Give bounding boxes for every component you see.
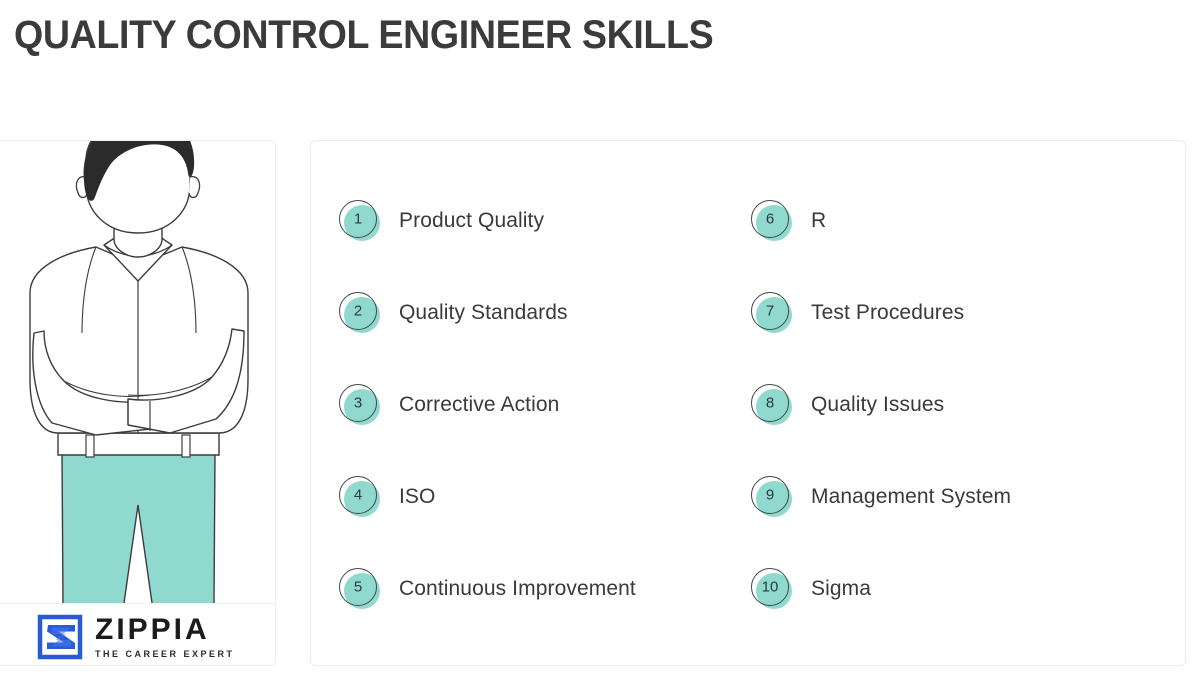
badge-ring: 10 (751, 568, 789, 606)
skill-label: Sigma (811, 576, 871, 602)
badge-number: 1 (354, 211, 362, 226)
skill-number-badge: 2 (339, 292, 381, 334)
skills-grid: 1 Product Quality 2 Quality Standards (311, 141, 1185, 665)
badge-number: 8 (766, 395, 774, 410)
zippia-wordmark: ZIPPIA (95, 615, 235, 645)
skill-label: R (811, 208, 826, 234)
badge-ring: 2 (339, 292, 377, 330)
badge-ring: 5 (339, 568, 377, 606)
skill-number-badge: 8 (751, 384, 793, 426)
engineer-illustration (0, 140, 276, 603)
badge-ring: 3 (339, 384, 377, 422)
skill-label: ISO (399, 484, 435, 510)
zippia-z-mark-icon (36, 613, 84, 661)
skill-row[interactable]: 7 Test Procedures (751, 267, 1163, 359)
badge-ring: 7 (751, 292, 789, 330)
illustration-panel: ZIPPIA THE CAREER EXPERT (0, 140, 276, 666)
badge-ring: 1 (339, 200, 377, 238)
skill-row[interactable]: 9 Management System (751, 451, 1163, 543)
skill-number-badge: 10 (751, 568, 793, 610)
badge-number: 10 (762, 579, 779, 594)
skill-row[interactable]: 10 Sigma (751, 543, 1163, 635)
skill-label: Quality Standards (399, 300, 568, 326)
badge-ring: 8 (751, 384, 789, 422)
logo-divider (0, 603, 275, 604)
skill-number-badge: 5 (339, 568, 381, 610)
skill-label: Quality Issues (811, 392, 944, 418)
zippia-logo[interactable]: ZIPPIA THE CAREER EXPERT (36, 613, 235, 661)
skill-number-badge: 1 (339, 200, 381, 242)
badge-ring: 6 (751, 200, 789, 238)
zippia-tagline: THE CAREER EXPERT (95, 649, 235, 659)
skill-number-badge: 3 (339, 384, 381, 426)
page-title: QUALITY CONTROL ENGINEER SKILLS (14, 12, 713, 58)
badge-number: 9 (766, 487, 774, 502)
page-root: QUALITY CONTROL ENGINEER SKILLS (0, 0, 1200, 675)
skill-row[interactable]: 8 Quality Issues (751, 359, 1163, 451)
badge-ring: 9 (751, 476, 789, 514)
zippia-logo-text: ZIPPIA THE CAREER EXPERT (95, 615, 235, 659)
skill-label: Management System (811, 484, 1011, 510)
skill-number-badge: 7 (751, 292, 793, 334)
skill-row[interactable]: 4 ISO (339, 451, 751, 543)
skill-label: Test Procedures (811, 300, 964, 326)
badge-number: 4 (354, 487, 362, 502)
skill-row[interactable]: 6 R (751, 175, 1163, 267)
skill-row[interactable]: 3 Corrective Action (339, 359, 751, 451)
badge-number: 7 (766, 303, 774, 318)
skill-number-badge: 9 (751, 476, 793, 518)
skill-row[interactable]: 5 Continuous Improvement (339, 543, 751, 635)
skill-row[interactable]: 2 Quality Standards (339, 267, 751, 359)
skill-label: Continuous Improvement (399, 576, 636, 602)
badge-number: 6 (766, 211, 774, 226)
skill-number-badge: 6 (751, 200, 793, 242)
skill-number-badge: 4 (339, 476, 381, 518)
skill-row[interactable]: 1 Product Quality (339, 175, 751, 267)
badge-number: 5 (354, 579, 362, 594)
badge-number: 2 (354, 303, 362, 318)
badge-ring: 4 (339, 476, 377, 514)
skill-label: Product Quality (399, 208, 544, 234)
skill-label: Corrective Action (399, 392, 559, 418)
badge-number: 3 (354, 395, 362, 410)
skills-card: 1 Product Quality 2 Quality Standards (310, 140, 1186, 666)
